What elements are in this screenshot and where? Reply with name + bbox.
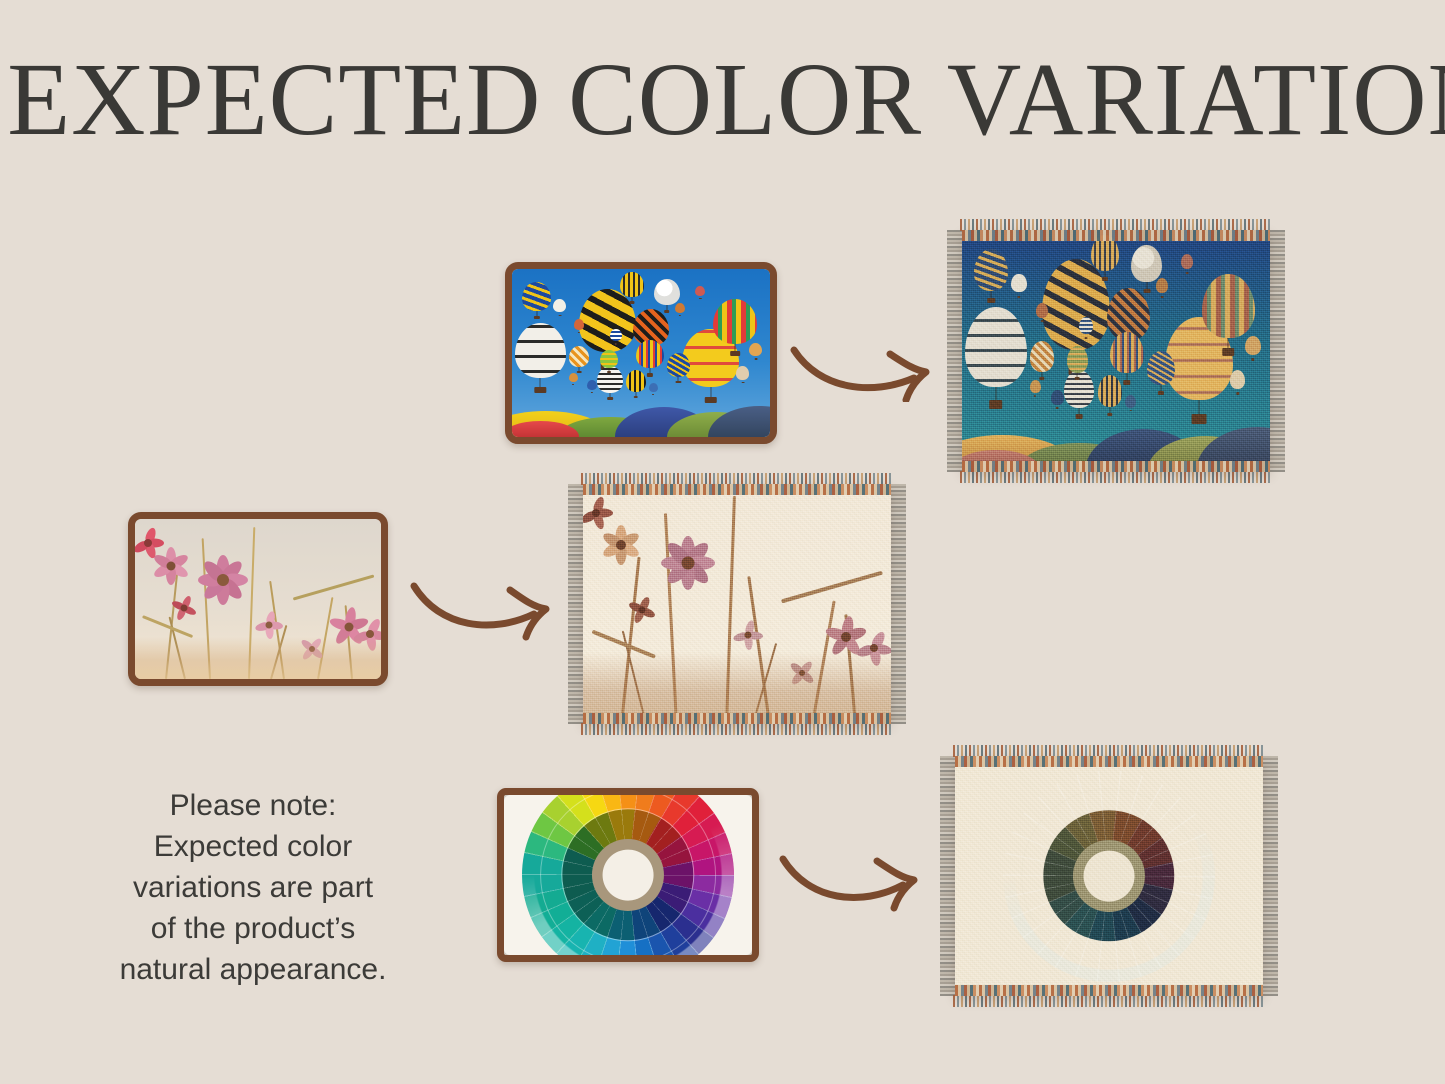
wheel-hub-hole [603, 850, 654, 901]
arrow-flowers [406, 572, 566, 642]
balloon [1011, 274, 1026, 298]
flower-bloom [169, 593, 199, 623]
colorwheel-woven-art [955, 756, 1263, 996]
balloon [1245, 336, 1260, 360]
colorwheel-background [955, 756, 1263, 996]
flower-bloom [626, 594, 658, 626]
balloon [667, 353, 690, 383]
blanket-border-band-bottom [955, 985, 1263, 996]
fringe-bottom [581, 723, 893, 735]
balloon [736, 366, 749, 383]
blanket-border-band-top [962, 230, 1270, 241]
flower-bloom [731, 618, 765, 652]
balloon [1079, 317, 1093, 339]
infographic-canvas: EXPECTED COLOR VARIATIONS [0, 0, 1445, 1084]
balloon [620, 272, 643, 304]
balloon [1051, 390, 1063, 409]
balloon [1125, 395, 1136, 412]
result-blanket-colorwheel[interactable] [955, 756, 1263, 996]
balloon [1230, 370, 1245, 394]
color-wheel [1003, 770, 1215, 982]
source-image-colorwheel[interactable] [497, 788, 759, 962]
note-line-3: variations are part [88, 867, 418, 908]
fringe-right [1263, 756, 1278, 996]
note-line-4: of the product’s [88, 908, 418, 949]
flower-bloom [253, 609, 285, 641]
blanket-border-band-bottom [962, 461, 1270, 472]
blanket-weave-body [955, 756, 1263, 996]
fringe-left [940, 756, 955, 996]
colorwheel-photo-canvas [504, 795, 752, 955]
note-line-2: Expected color [88, 826, 418, 867]
flower-bloom [135, 525, 166, 561]
balloon [574, 319, 584, 332]
colorwheel-background [504, 795, 752, 955]
balloon [1030, 341, 1055, 380]
balloon [569, 346, 590, 373]
color-wheel [522, 795, 734, 955]
fringe-right [891, 484, 906, 724]
arrow-balloons [786, 332, 946, 402]
balloon-field-hills [512, 400, 770, 437]
balloon [1030, 380, 1041, 397]
balloon [749, 343, 762, 360]
result-blanket-balloons[interactable] [962, 230, 1270, 472]
wheel-hub-hole [1084, 851, 1135, 902]
note-line-5: natural appearance. [88, 949, 418, 990]
blanket-border-band-top [583, 484, 891, 495]
fringe-right [1270, 230, 1285, 472]
flower-bloom [657, 532, 719, 594]
blanket-weave-body [962, 230, 1270, 472]
balloon [515, 323, 567, 394]
disclaimer-note: Please note: Expected color variations a… [88, 785, 418, 990]
balloon [1036, 303, 1048, 322]
balloon [1091, 235, 1119, 281]
fringe-bottom [960, 471, 1272, 483]
balloon [965, 307, 1027, 409]
balloon [1067, 346, 1089, 380]
balloon [1147, 351, 1175, 395]
page-title: EXPECTED COLOR VARIATIONS [7, 48, 1438, 152]
arrow-colorwheel [775, 845, 935, 915]
fringe-left [568, 484, 583, 724]
balloon [695, 286, 705, 299]
balloon [1181, 254, 1193, 273]
fringe-bottom [953, 995, 1265, 1007]
balloon [1098, 375, 1123, 416]
source-image-balloons[interactable] [505, 262, 777, 444]
balloon [600, 350, 618, 374]
balloons-photo-canvas [512, 269, 770, 437]
balloon [1156, 278, 1168, 297]
flowers-woven-art [583, 484, 891, 724]
balloon [626, 370, 647, 399]
note-line-1: Please note: [88, 785, 418, 826]
balloon [587, 380, 597, 393]
balloon [569, 373, 578, 385]
balloon [553, 299, 566, 316]
balloon [610, 329, 622, 344]
flower-bloom [194, 551, 252, 609]
flowers-photo-canvas [135, 519, 381, 679]
blanket-weave-body [583, 484, 891, 724]
flower-bloom [583, 494, 615, 532]
balloon [522, 282, 550, 319]
balloon [675, 303, 685, 316]
blanket-border-band-bottom [583, 713, 891, 724]
balloon [649, 383, 658, 395]
balloons-woven-art [962, 230, 1270, 472]
result-blanket-flowers[interactable] [583, 484, 891, 724]
blanket-border-band-top [955, 756, 1263, 767]
source-image-flowers[interactable] [128, 512, 388, 686]
fringe-left [947, 230, 962, 472]
balloon [974, 249, 1008, 302]
